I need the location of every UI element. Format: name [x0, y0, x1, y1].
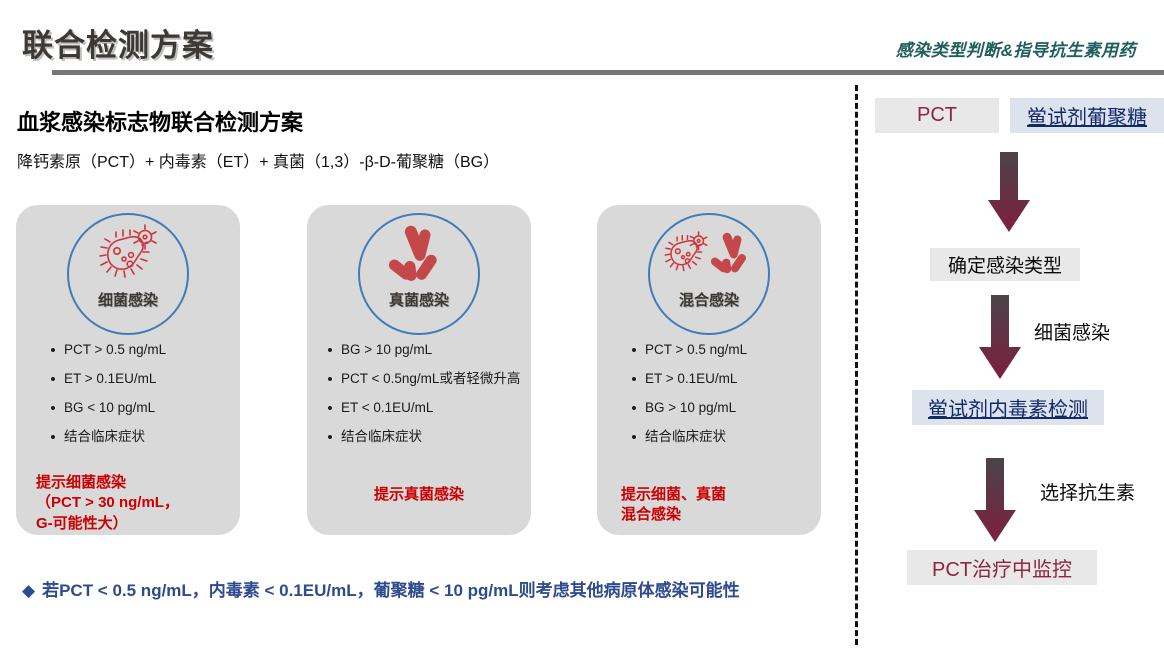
- conclusion-line: （PCT > 30 ng/mL，: [36, 493, 240, 513]
- bullet-dot: •: [42, 343, 64, 358]
- bullet-item: •BG > 10 pg/mL: [307, 343, 531, 358]
- conclusion-line: 提示细菌感染: [36, 473, 240, 493]
- card-fungal-infection: 真菌感染 •BG > 10 pg/mL •PCT < 0.5ng/mL或者轻微升…: [307, 205, 531, 535]
- card-circle-bacterial: 细菌感染: [67, 213, 189, 335]
- card-circle-fungal: 真菌感染: [358, 213, 480, 335]
- bullet-item: •BG < 10 pg/mL: [16, 401, 240, 416]
- footnote: ◆若PCT < 0.5 ng/mL，内毒素 < 0.1EU/mL，葡聚糖 < 1…: [22, 578, 822, 604]
- flow-label-select-antibiotic: 选择抗生素: [1040, 478, 1135, 505]
- footnote-text: 若PCT < 0.5 ng/mL，内毒素 < 0.1EU/mL，葡聚糖 < 10…: [42, 581, 740, 600]
- workflow-flowchart: PCT 鲎试剂葡聚糖 确定感染类型 细菌感染 鲎试剂内毒素检测 选择抗生素 PC…: [862, 90, 1164, 610]
- conclusion-line: 提示细菌、真菌: [621, 485, 821, 505]
- bullet-text: BG < 10 pg/mL: [64, 401, 155, 416]
- flow-box-determine-infection-type[interactable]: 确定感染类型: [930, 248, 1080, 281]
- flow-label-bacterial-infection: 细菌感染: [1034, 318, 1110, 345]
- conclusion-line: 提示真菌感染: [307, 485, 531, 505]
- diamond-bullet-icon: ◆: [22, 581, 35, 600]
- icon-row: [97, 221, 159, 287]
- bullet-text: 结合临床症状: [341, 430, 422, 445]
- flow-box-pct[interactable]: PCT: [875, 98, 999, 133]
- bullet-item: •ET > 0.1EU/mL: [16, 372, 240, 387]
- bullet-dot: •: [623, 401, 645, 416]
- bullet-text: 结合临床症状: [645, 430, 726, 445]
- card-conclusion: 提示细菌感染 （PCT > 30 ng/mL， G-可能性大）: [16, 473, 240, 534]
- card-mixed-infection: 混合感染 •PCT > 0.5 ng/mL •ET > 0.1EU/mL •BG…: [597, 205, 821, 535]
- bullet-text: PCT < 0.5ng/mL或者轻微升高: [341, 372, 520, 387]
- bullet-dot: •: [42, 430, 64, 445]
- down-arrow-icon: [981, 152, 1037, 234]
- card-circle-label: 真菌感染: [389, 289, 449, 310]
- card-bullet-list: •PCT > 0.5 ng/mL •ET > 0.1EU/mL •BG < 10…: [16, 343, 240, 459]
- bullet-item: •结合临床症状: [597, 430, 821, 445]
- conclusion-line: G-可能性大）: [36, 514, 240, 534]
- flow-box-pct-monitoring[interactable]: PCT治疗中监控: [907, 550, 1097, 585]
- card-circle-mixed: 混合感染: [648, 213, 770, 335]
- fungus-icon: [711, 230, 755, 279]
- page-subtitle: 感染类型判断&指导抗生素用药: [896, 36, 1136, 61]
- bullet-text: ET > 0.1EU/mL: [64, 372, 156, 387]
- bullet-text: PCT > 0.5 ng/mL: [645, 343, 747, 358]
- bullet-item: •BG > 10 pg/mL: [597, 401, 821, 416]
- bullet-dot: •: [42, 372, 64, 387]
- card-bullet-list: •PCT > 0.5 ng/mL •ET > 0.1EU/mL •BG > 10…: [597, 343, 821, 459]
- flow-box-endotoxin-test[interactable]: 鲎试剂内毒素检测: [912, 390, 1104, 425]
- card-conclusion: 提示细菌、真菌 混合感染: [597, 485, 821, 526]
- section-formula: 降钙素原（PCT）+ 内毒素（ET）+ 真菌（1,3）-β-D-葡聚糖（BG）: [17, 148, 499, 172]
- header-divider-rule: [52, 70, 1164, 75]
- card-bacterial-infection: 细菌感染 •PCT > 0.5 ng/mL •ET > 0.1EU/mL •BG…: [16, 205, 240, 535]
- flow-box-bg-reagent[interactable]: 鲎试剂葡聚糖: [1010, 98, 1164, 133]
- section-title: 血浆感染标志物联合检测方案: [17, 105, 303, 137]
- bullet-dot: •: [319, 401, 341, 416]
- card-bullet-list: •BG > 10 pg/mL •PCT < 0.5ng/mL或者轻微升高 •ET…: [307, 343, 531, 459]
- bullet-text: ET > 0.1EU/mL: [645, 372, 737, 387]
- bullet-dot: •: [319, 372, 341, 387]
- bullet-item: •PCT > 0.5 ng/mL: [16, 343, 240, 358]
- bacteria-icon: [97, 224, 159, 285]
- conclusion-line: 混合感染: [621, 505, 821, 525]
- bullet-item: •ET > 0.1EU/mL: [597, 372, 821, 387]
- bullet-item: •PCT > 0.5 ng/mL: [597, 343, 821, 358]
- down-arrow-icon: [967, 458, 1023, 544]
- bullet-dot: •: [623, 430, 645, 445]
- card-conclusion: 提示真菌感染: [307, 485, 531, 505]
- bullet-item: •结合临床症状: [307, 430, 531, 445]
- page-title: 联合检测方案: [22, 20, 214, 65]
- icon-row: [389, 221, 449, 287]
- infection-cards: 细菌感染 •PCT > 0.5 ng/mL •ET > 0.1EU/mL •BG…: [16, 205, 832, 535]
- bullet-text: PCT > 0.5 ng/mL: [64, 343, 166, 358]
- vertical-dashed-divider: [855, 85, 858, 645]
- bullet-text: BG > 10 pg/mL: [645, 401, 736, 416]
- bullet-dot: •: [623, 372, 645, 387]
- bullet-dot: •: [42, 401, 64, 416]
- bullet-text: 结合临床症状: [64, 430, 145, 445]
- bullet-dot: •: [319, 430, 341, 445]
- bacteria-icon: [663, 229, 709, 280]
- fungus-icon: [389, 223, 449, 286]
- bullet-text: ET < 0.1EU/mL: [341, 401, 433, 416]
- bullet-text: BG > 10 pg/mL: [341, 343, 432, 358]
- bullet-item: •结合临床症状: [16, 430, 240, 445]
- bullet-item: •PCT < 0.5ng/mL或者轻微升高: [307, 372, 531, 387]
- bullet-dot: •: [623, 343, 645, 358]
- icon-row: [663, 221, 755, 287]
- card-circle-label: 细菌感染: [98, 289, 158, 310]
- down-arrow-icon: [972, 295, 1028, 381]
- bullet-dot: •: [319, 343, 341, 358]
- card-circle-label: 混合感染: [679, 289, 739, 310]
- bullet-item: •ET < 0.1EU/mL: [307, 401, 531, 416]
